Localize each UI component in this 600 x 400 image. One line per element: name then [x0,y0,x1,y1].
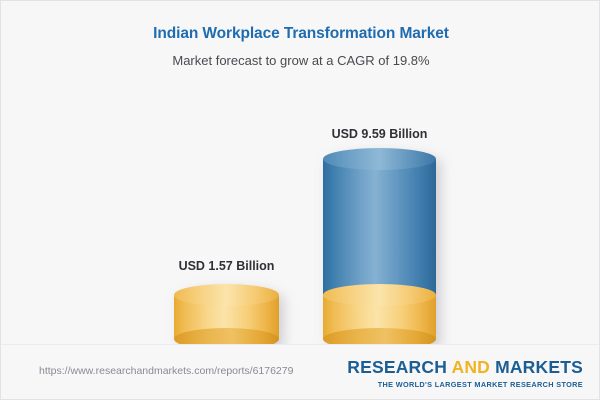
logo-wordmark: RESEARCH AND MARKETS [347,357,583,378]
segment-top-cap [174,284,279,306]
footer: https://www.researchandmarkets.com/repor… [1,344,600,399]
bar-segment-2025-base [174,295,279,339]
bar-segment-2034-base [323,295,436,339]
segment-top-cap [323,284,436,306]
market-infographic: Indian Workplace Transformation Market M… [0,0,600,400]
bar-value-label-2025: USD 1.57 Billion [144,259,309,273]
logo-tagline: THE WORLD'S LARGEST MARKET RESEARCH STOR… [347,380,583,389]
cylinder-bar-2034 [323,159,436,339]
source-url-link[interactable]: https://www.researchandmarkets.com/repor… [39,365,293,377]
bar-value-label-2034: USD 9.59 Billion [297,127,462,141]
page-subtitle: Market forecast to grow at a CAGR of 19.… [1,53,600,68]
segment-top-cap [323,148,436,170]
research-and-markets-logo[interactable]: RESEARCH AND MARKETS THE WORLD'S LARGEST… [347,357,583,389]
logo-word-research: RESEARCH [347,357,447,377]
logo-word-markets: MARKETS [495,357,583,377]
page-title: Indian Workplace Transformation Market [1,25,600,43]
bar-chart-plot-area: USD 1.57 Billion 2025 USD 9.59 Billion [1,81,600,339]
cylinder-bar-2025 [174,295,279,339]
logo-word-and: AND [451,357,490,377]
